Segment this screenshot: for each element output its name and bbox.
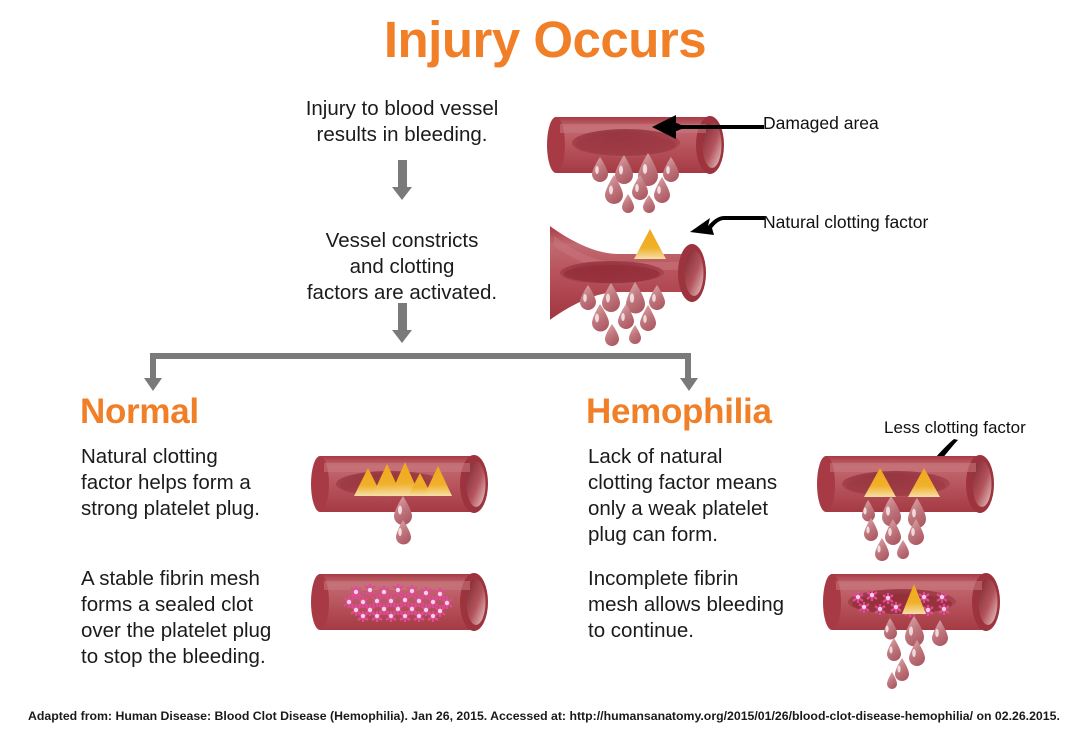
infographic-canvas: Injury Occurs Injury to blood vessel res… [0,0,1090,737]
step-injury-text: Injury to blood vessel results in bleedi… [278,96,526,148]
callout-natural-clotting-factor: Natural clotting factor [763,212,928,233]
normal-text-platelet-plug: Natural clotting factor helps form a str… [81,444,331,522]
pointer-arrow-damaged-area [640,112,765,142]
hemophilia-text-weak-plug: Lack of natural clotting factor means on… [588,444,836,548]
vessel-illustration-injury [548,95,748,200]
normal-text-fibrin-mesh: A stable fibrin mesh forms a sealed clot… [81,566,329,670]
branch-arrow-normal [144,378,162,391]
hemophilia-text-incomplete-mesh: Incomplete fibrin mesh allows bleeding t… [588,566,836,644]
callout-less-clotting-factor: Less clotting factor [884,418,1026,438]
vessel-illustration-hemophilia-mesh [824,566,1024,696]
branch-split-connector [150,353,691,393]
vessel-illustration-normal-mesh [312,566,512,646]
pointer-arrow-natural-clotting-factor [688,210,766,242]
flow-arrow-step1-to-step2 [382,160,422,200]
page-title: Injury Occurs [0,10,1090,69]
vessel-illustration-hemophilia-plug [818,448,1018,563]
vessel-illustration-normal-plug [312,448,512,548]
source-citation: Adapted from: Human Disease: Blood Clot … [28,709,1060,723]
section-heading-hemophilia: Hemophilia [586,392,772,432]
step-constrict-line: Vessel constricts and clotting factors a… [307,229,497,304]
callout-damaged-area: Damaged area [763,113,879,134]
step-injury-line: Injury to blood vessel results in bleedi… [306,97,499,146]
branch-arrow-hemophilia [680,378,698,391]
section-heading-normal: Normal [80,392,199,432]
step-constrict-text: Vessel constricts and clotting factors a… [278,228,526,306]
flow-arrow-step2-to-branch [382,303,422,343]
